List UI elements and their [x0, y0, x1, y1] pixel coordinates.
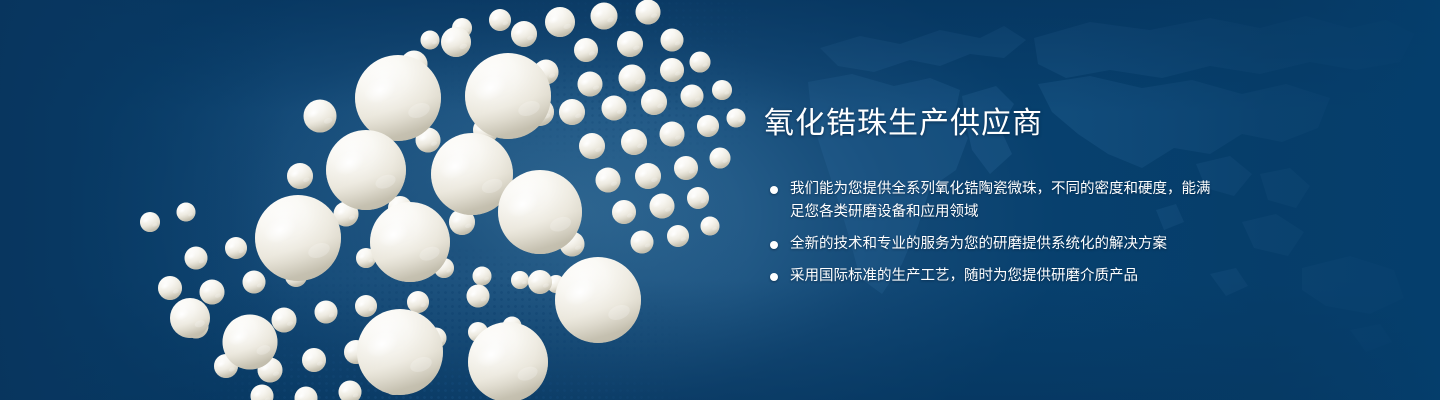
- list-item-label: 全新的技术和专业的服务为您的研磨提供系统化的解决方案: [790, 236, 1167, 252]
- hero-banner: 氧化锆珠生产供应商 我们能为您提供全系列氧化锆陶瓷微珠，不同的密度和硬度，能满足…: [0, 0, 1440, 400]
- feature-list: 我们能为您提供全系列氧化锆陶瓷微珠，不同的密度和硬度，能满足您各类研磨设备和应用…: [764, 178, 1404, 288]
- list-item: 采用国际标准的生产工艺，随时为您提供研磨介质产品: [764, 265, 1220, 288]
- list-item-label: 采用国际标准的生产工艺，随时为您提供研磨介质产品: [790, 268, 1138, 284]
- page-title: 氧化锆珠生产供应商: [764, 104, 1404, 144]
- bullet-dot-icon: [770, 241, 778, 249]
- banner-copy: 氧化锆珠生产供应商 我们能为您提供全系列氧化锆陶瓷微珠，不同的密度和硬度，能满足…: [764, 104, 1404, 288]
- list-item-label: 我们能为您提供全系列氧化锆陶瓷微珠，不同的密度和硬度，能满足您各类研磨设备和应用…: [790, 181, 1211, 220]
- list-item: 我们能为您提供全系列氧化锆陶瓷微珠，不同的密度和硬度，能满足您各类研磨设备和应用…: [764, 178, 1220, 224]
- list-item: 全新的技术和专业的服务为您的研磨提供系统化的解决方案: [764, 233, 1220, 256]
- bullet-dot-icon: [770, 273, 778, 281]
- bullet-dot-icon: [770, 186, 778, 194]
